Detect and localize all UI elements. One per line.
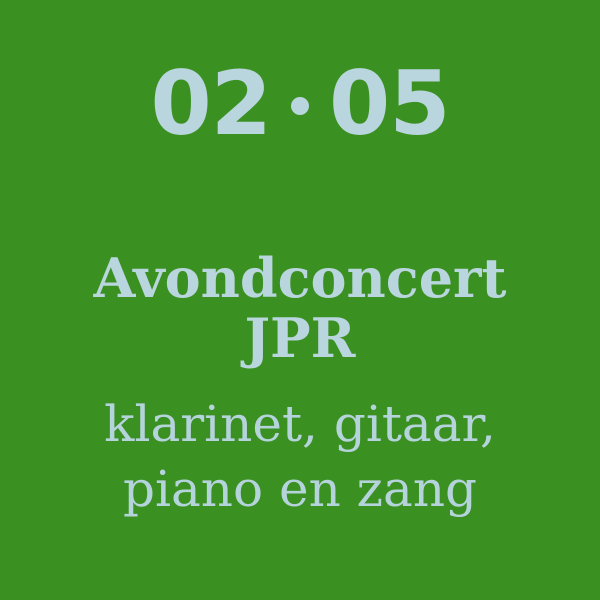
event-title-line-1: Avondconcert: [0, 248, 600, 308]
event-date-day: 02: [151, 60, 271, 148]
event-date: 02 05: [0, 52, 600, 156]
event-date-month: 05: [329, 60, 449, 148]
event-card: 02 05 Avondconcert JPR klarinet, gitaar,…: [0, 0, 600, 600]
event-title: Avondconcert JPR: [0, 248, 600, 369]
event-subtitle-line-2: piano en zang: [0, 457, 600, 522]
event-subtitle-line-1: klarinet, gitaar,: [0, 392, 600, 457]
dot-separator-icon: [291, 97, 309, 115]
event-subtitle: klarinet, gitaar, piano en zang: [0, 392, 600, 522]
event-title-line-2: JPR: [0, 308, 600, 368]
